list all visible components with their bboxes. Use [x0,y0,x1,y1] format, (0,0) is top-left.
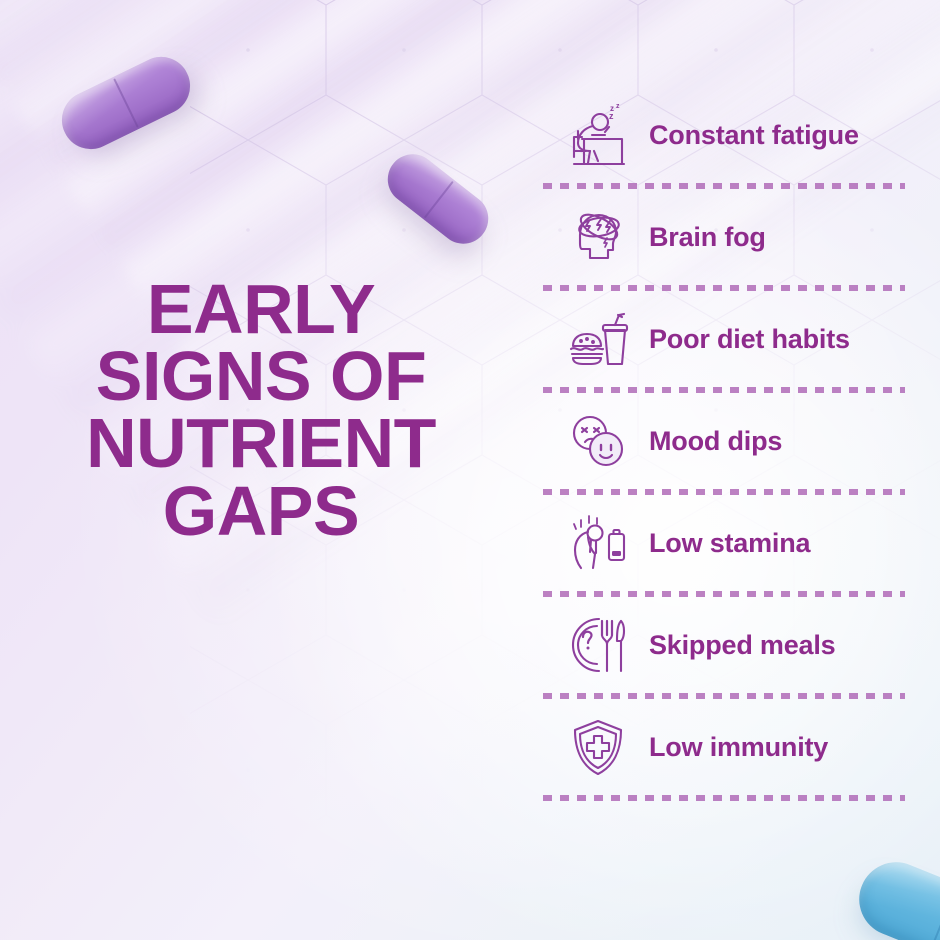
list-item-label: Low immunity [649,732,828,763]
purple-capsule-center [378,144,499,254]
symptom-list: z z z Constant fatigue [543,88,905,802]
row-divider [543,182,905,190]
infographic-poster: EARLY SIGNS OF NUTRIENT GAPS [0,0,940,940]
list-item: Poor diet habits [543,292,905,386]
list-item-label: Poor diet habits [649,324,850,355]
list-item: Mood dips [543,394,905,488]
burger-and-soda-icon [561,302,635,376]
sad-and-happy-faces-icon [561,404,635,478]
title-line-3: NUTRIENT [26,410,496,477]
row-divider [543,590,905,598]
list-item: z z z Constant fatigue [543,88,905,182]
list-item: Skipped meals [543,598,905,692]
title-line-1: EARLY [26,276,496,343]
list-item-label: Low stamina [649,528,810,559]
exhausted-person-battery-icon [561,506,635,580]
page-title: EARLY SIGNS OF NUTRIENT GAPS [26,276,496,545]
blue-capsule-bottom-right [848,851,940,940]
purple-capsule-top-left [52,47,200,159]
plate-question-cutlery-icon [561,608,635,682]
row-divider [543,386,905,394]
tired-person-at-desk-icon: z z z [561,98,635,172]
shield-medical-cross-icon [561,710,635,784]
list-item: Low immunity [543,700,905,794]
list-item: Low stamina [543,496,905,590]
row-divider [543,284,905,292]
row-divider [543,692,905,700]
title-line-2: SIGNS OF [26,343,496,410]
list-item-label: Skipped meals [649,630,835,661]
row-divider [543,794,905,802]
list-item-label: Constant fatigue [649,120,859,151]
svg-text:z: z [609,111,614,121]
head-brain-fog-icon [561,200,635,274]
svg-text:z: z [616,103,620,110]
list-item: Brain fog [543,190,905,284]
title-line-4: GAPS [26,478,496,545]
list-item-label: Brain fog [649,222,766,253]
row-divider [543,488,905,496]
list-item-label: Mood dips [649,426,782,457]
